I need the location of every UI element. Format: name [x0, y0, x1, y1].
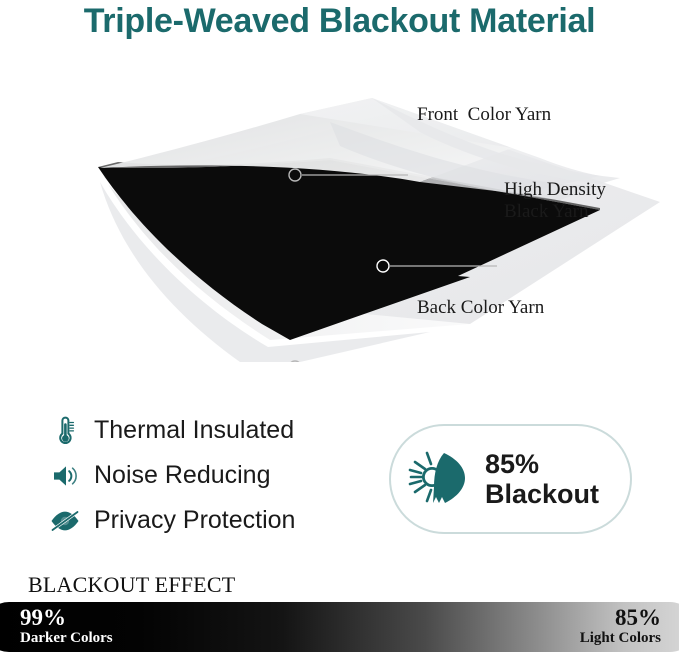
badge-percent: 85% — [485, 449, 539, 479]
page-title: Triple-Weaved Blackout Material — [0, 2, 679, 41]
feature-item-thermal-insulated: Thermal Insulated — [46, 408, 366, 453]
effect-stat-darker: 99% Darker Colors — [20, 606, 113, 646]
eye-slash-icon — [46, 504, 84, 538]
effect-percent-light: 85% — [580, 606, 661, 629]
curtain-shape — [433, 453, 465, 503]
label-front-color-yarn: Front Color Yarn — [417, 104, 551, 126]
feature-label-privacy-protection: Privacy Protection — [94, 506, 295, 535]
sun-rays — [410, 453, 431, 501]
feature-item-privacy-protection: Privacy Protection — [46, 498, 366, 543]
badge-text: 85% Blackout — [485, 449, 599, 509]
effect-stat-light: 85% Light Colors — [580, 606, 661, 646]
effect-percent-darker: 99% — [20, 606, 113, 629]
feature-label-thermal-insulated: Thermal Insulated — [94, 416, 294, 445]
effect-caption-light: Light Colors — [580, 631, 661, 646]
badge-label: Blackout — [485, 479, 599, 509]
label-high-density-black-yarn: High DensityBlack Yarn — [504, 179, 664, 224]
sun-blocked-icon — [397, 447, 483, 511]
label-middle-line1: High Density — [504, 179, 606, 200]
blackout-effect-heading: BLACKOUT EFFECT — [28, 572, 235, 598]
feature-label-noise-reducing: Noise Reducing — [94, 461, 271, 490]
feature-list: Thermal Insulated Noise Reducing Privacy… — [46, 408, 366, 543]
blackout-badge: 85% Blackout — [389, 424, 632, 534]
label-middle-line2: Black Yarn — [504, 201, 588, 222]
feature-item-noise-reducing: Noise Reducing — [46, 453, 366, 498]
speaker-icon — [46, 459, 84, 493]
thermometer-icon — [46, 414, 84, 448]
label-back-color-yarn: Back Color Yarn — [417, 297, 544, 319]
effect-caption-darker: Darker Colors — [20, 631, 113, 646]
leader-line-back — [289, 361, 408, 362]
